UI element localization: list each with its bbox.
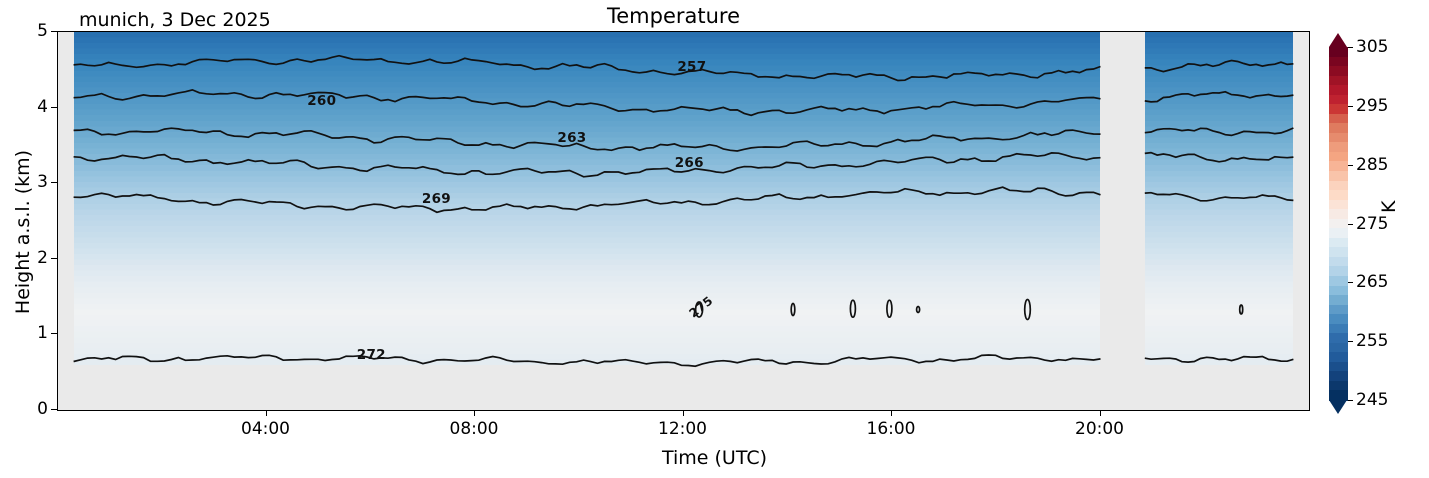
colorbar-tick-label: 305 bbox=[1356, 37, 1388, 57]
figure-title: Temperature bbox=[607, 4, 740, 28]
contour-line bbox=[74, 153, 1101, 177]
contour-label: 257 bbox=[677, 59, 706, 75]
x-tick bbox=[1100, 411, 1101, 416]
contour-line bbox=[1145, 357, 1294, 363]
y-tick bbox=[51, 182, 57, 183]
contour-label: 269 bbox=[422, 191, 451, 207]
contour-line-closed bbox=[917, 307, 920, 313]
x-tick bbox=[266, 411, 267, 416]
contour-line bbox=[74, 90, 1101, 115]
contour-line bbox=[74, 56, 1101, 81]
contour-label: 263 bbox=[557, 130, 586, 146]
contour-line-closed bbox=[1025, 300, 1031, 320]
contour-line-closed bbox=[887, 300, 892, 317]
x-tick bbox=[474, 411, 475, 416]
colorbar-tick bbox=[1348, 106, 1353, 107]
y-tick bbox=[51, 409, 57, 410]
x-tick-label: 16:00 bbox=[867, 419, 916, 439]
x-tick-label: 12:00 bbox=[658, 419, 707, 439]
contour-line bbox=[1145, 92, 1294, 102]
x-tick-label: 20:00 bbox=[1075, 419, 1124, 439]
contour-line bbox=[1145, 153, 1294, 162]
x-tick bbox=[891, 411, 892, 416]
colorbar-tick-label: 275 bbox=[1356, 214, 1388, 234]
colorbar-tick-label: 295 bbox=[1356, 96, 1388, 116]
y-tick-label: 4 bbox=[10, 97, 48, 117]
colorbar-tick-label: 255 bbox=[1356, 331, 1388, 351]
colorbar-tick bbox=[1348, 400, 1353, 401]
y-axis-label: Height a.s.l. (km) bbox=[12, 117, 34, 347]
y-tick-label: 5 bbox=[10, 21, 48, 41]
colorbar[interactable]: 305295285275265255245 bbox=[1329, 33, 1349, 413]
y-tick bbox=[51, 107, 57, 108]
plot-axes[interactable]: 257260263266269272275 bbox=[57, 31, 1310, 411]
colorbar-tick bbox=[1348, 341, 1353, 342]
contour-line-closed bbox=[1240, 305, 1243, 314]
contour-lines-overlay bbox=[58, 32, 1309, 410]
y-tick bbox=[51, 31, 57, 32]
contour-label: 272 bbox=[357, 347, 386, 363]
contour-line bbox=[74, 128, 1101, 151]
figure-canvas: munich, 3 Dec 2025 Temperature 257260263… bbox=[0, 0, 1429, 478]
contour-line bbox=[74, 187, 1101, 212]
colorbar-tick bbox=[1348, 47, 1353, 48]
x-tick-label: 04:00 bbox=[241, 419, 290, 439]
x-tick bbox=[683, 411, 684, 416]
contour-line-closed bbox=[791, 304, 795, 316]
x-axis-label: Time (UTC) bbox=[0, 447, 1429, 469]
colorbar-label: K bbox=[1378, 201, 1400, 213]
colorbar-tick-label: 265 bbox=[1356, 272, 1388, 292]
colorbar-tick bbox=[1348, 282, 1353, 283]
contour-line bbox=[74, 355, 1101, 366]
corner-title: munich, 3 Dec 2025 bbox=[79, 9, 271, 31]
y-tick-label: 0 bbox=[10, 399, 48, 419]
colorbar-tick-label: 245 bbox=[1356, 390, 1388, 410]
contour-label: 260 bbox=[307, 93, 336, 109]
x-tick-label: 08:00 bbox=[450, 419, 499, 439]
contour-line bbox=[1145, 193, 1294, 201]
contour-line bbox=[1145, 61, 1294, 72]
contour-line bbox=[1145, 128, 1294, 135]
y-tick bbox=[51, 258, 57, 259]
colorbar-extend-max-arrow bbox=[1329, 33, 1347, 47]
y-tick-label: 3 bbox=[10, 172, 48, 192]
colorbar-tick-label: 285 bbox=[1356, 155, 1388, 175]
colorbar-extend-min-arrow bbox=[1329, 400, 1347, 414]
y-tick-label: 1 bbox=[10, 323, 48, 343]
contour-line-closed bbox=[850, 300, 855, 317]
y-tick-label: 2 bbox=[10, 248, 48, 268]
colorbar-tick bbox=[1348, 165, 1353, 166]
contour-label: 266 bbox=[675, 155, 704, 171]
y-tick bbox=[51, 333, 57, 334]
colorbar-body bbox=[1329, 47, 1348, 400]
colorbar-tick bbox=[1348, 224, 1353, 225]
